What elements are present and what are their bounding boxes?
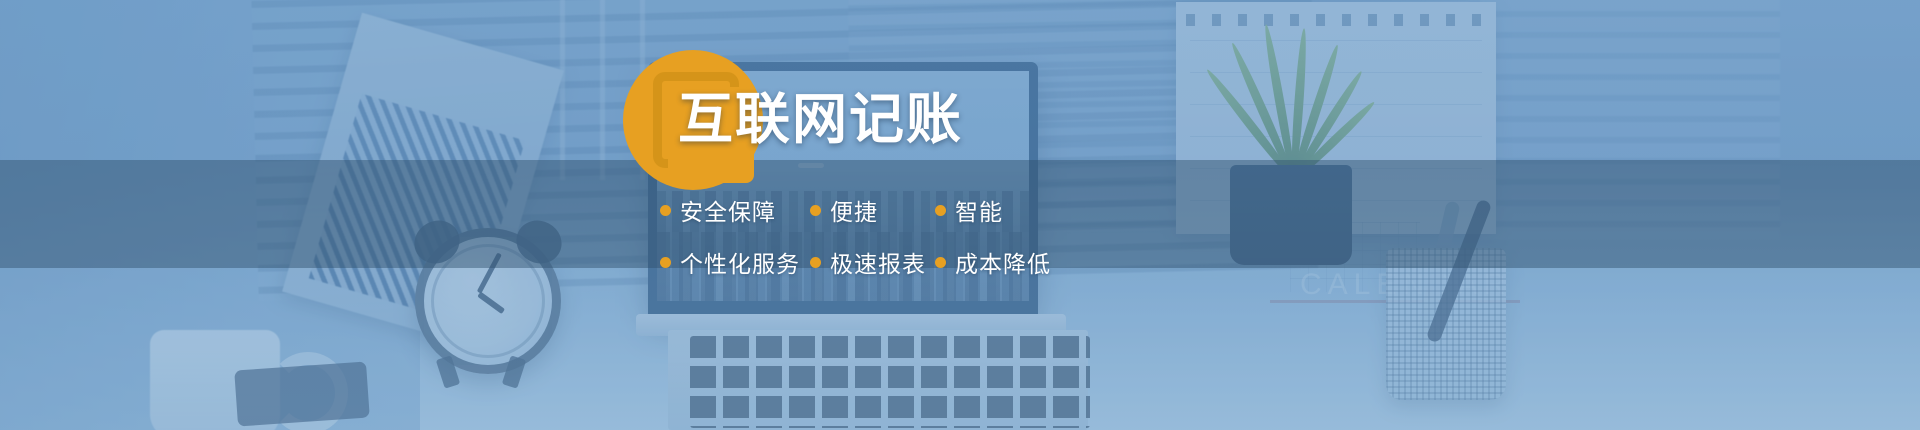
- dot-icon: [660, 257, 671, 268]
- dot-icon: [810, 205, 821, 216]
- page-title: 互联网记账: [678, 92, 963, 147]
- feature-item[interactable]: 成本降低: [935, 245, 1051, 279]
- promo-banner: CALENDAR: [0, 0, 1920, 430]
- dot-icon: [660, 205, 671, 216]
- banner-content: 互联网记账 安全保障便捷智能个性化服务极速报表成本降低: [0, 0, 1920, 430]
- feature-label: 个性化服务: [680, 245, 800, 279]
- dot-icon: [935, 205, 946, 216]
- feature-item[interactable]: 智能: [935, 193, 1003, 227]
- dot-icon: [935, 257, 946, 268]
- feature-row: 个性化服务极速报表成本降低: [660, 236, 1080, 288]
- feature-item[interactable]: 极速报表: [810, 245, 935, 279]
- feature-list: 安全保障便捷智能个性化服务极速报表成本降低: [660, 184, 1080, 288]
- feature-item[interactable]: 个性化服务: [660, 245, 810, 279]
- feature-label: 极速报表: [830, 245, 926, 279]
- feature-label: 安全保障: [680, 193, 776, 227]
- dot-icon: [810, 257, 821, 268]
- feature-item[interactable]: 便捷: [810, 193, 935, 227]
- feature-row: 安全保障便捷智能: [660, 184, 1080, 236]
- feature-item[interactable]: 安全保障: [660, 193, 810, 227]
- feature-label: 智能: [955, 193, 1003, 227]
- feature-label: 成本降低: [955, 245, 1051, 279]
- feature-label: 便捷: [830, 193, 878, 227]
